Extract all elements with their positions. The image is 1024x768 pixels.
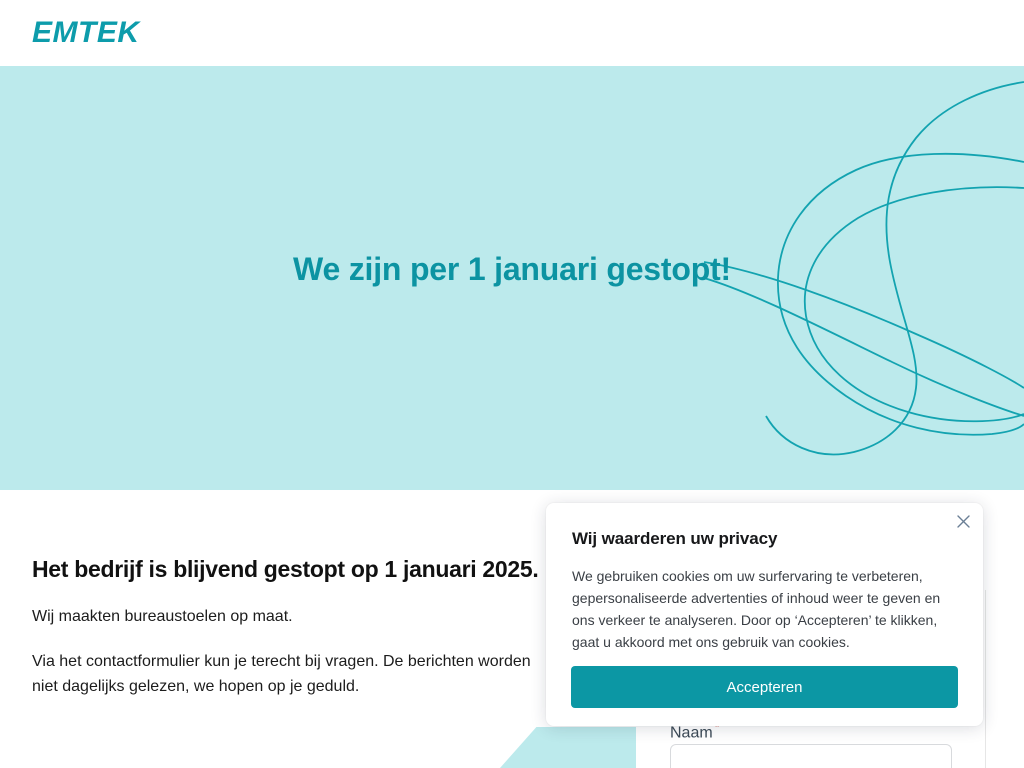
site-header: EMTEK bbox=[0, 0, 1024, 66]
content-heading: Het bedrijf is blijvend gestopt op 1 jan… bbox=[32, 556, 552, 584]
name-input[interactable] bbox=[670, 744, 952, 768]
cookie-banner-body: We gebruiken cookies om uw surfervaring … bbox=[572, 565, 964, 653]
hero-section: We zijn per 1 januari gestopt! bbox=[0, 66, 1024, 490]
content-paragraph-1: Wij maakten bureaustoelen op maat. bbox=[32, 605, 552, 630]
name-label-text: Naam bbox=[670, 724, 713, 741]
content-column: Het bedrijf is blijvend gestopt op 1 jan… bbox=[32, 556, 552, 700]
hero-title: We zijn per 1 januari gestopt! bbox=[0, 66, 1024, 490]
cookie-consent-banner: Wij waarderen uw privacy We gebruiken co… bbox=[546, 503, 983, 726]
accept-cookies-button[interactable]: Accepteren bbox=[571, 666, 958, 708]
cookie-banner-title: Wij waarderen uw privacy bbox=[572, 529, 777, 549]
close-icon bbox=[957, 515, 970, 528]
close-button[interactable] bbox=[951, 509, 975, 533]
emtek-logo[interactable]: EMTEK bbox=[32, 18, 140, 48]
content-paragraph-2: Via het contactformulier kun je terecht … bbox=[32, 650, 552, 700]
